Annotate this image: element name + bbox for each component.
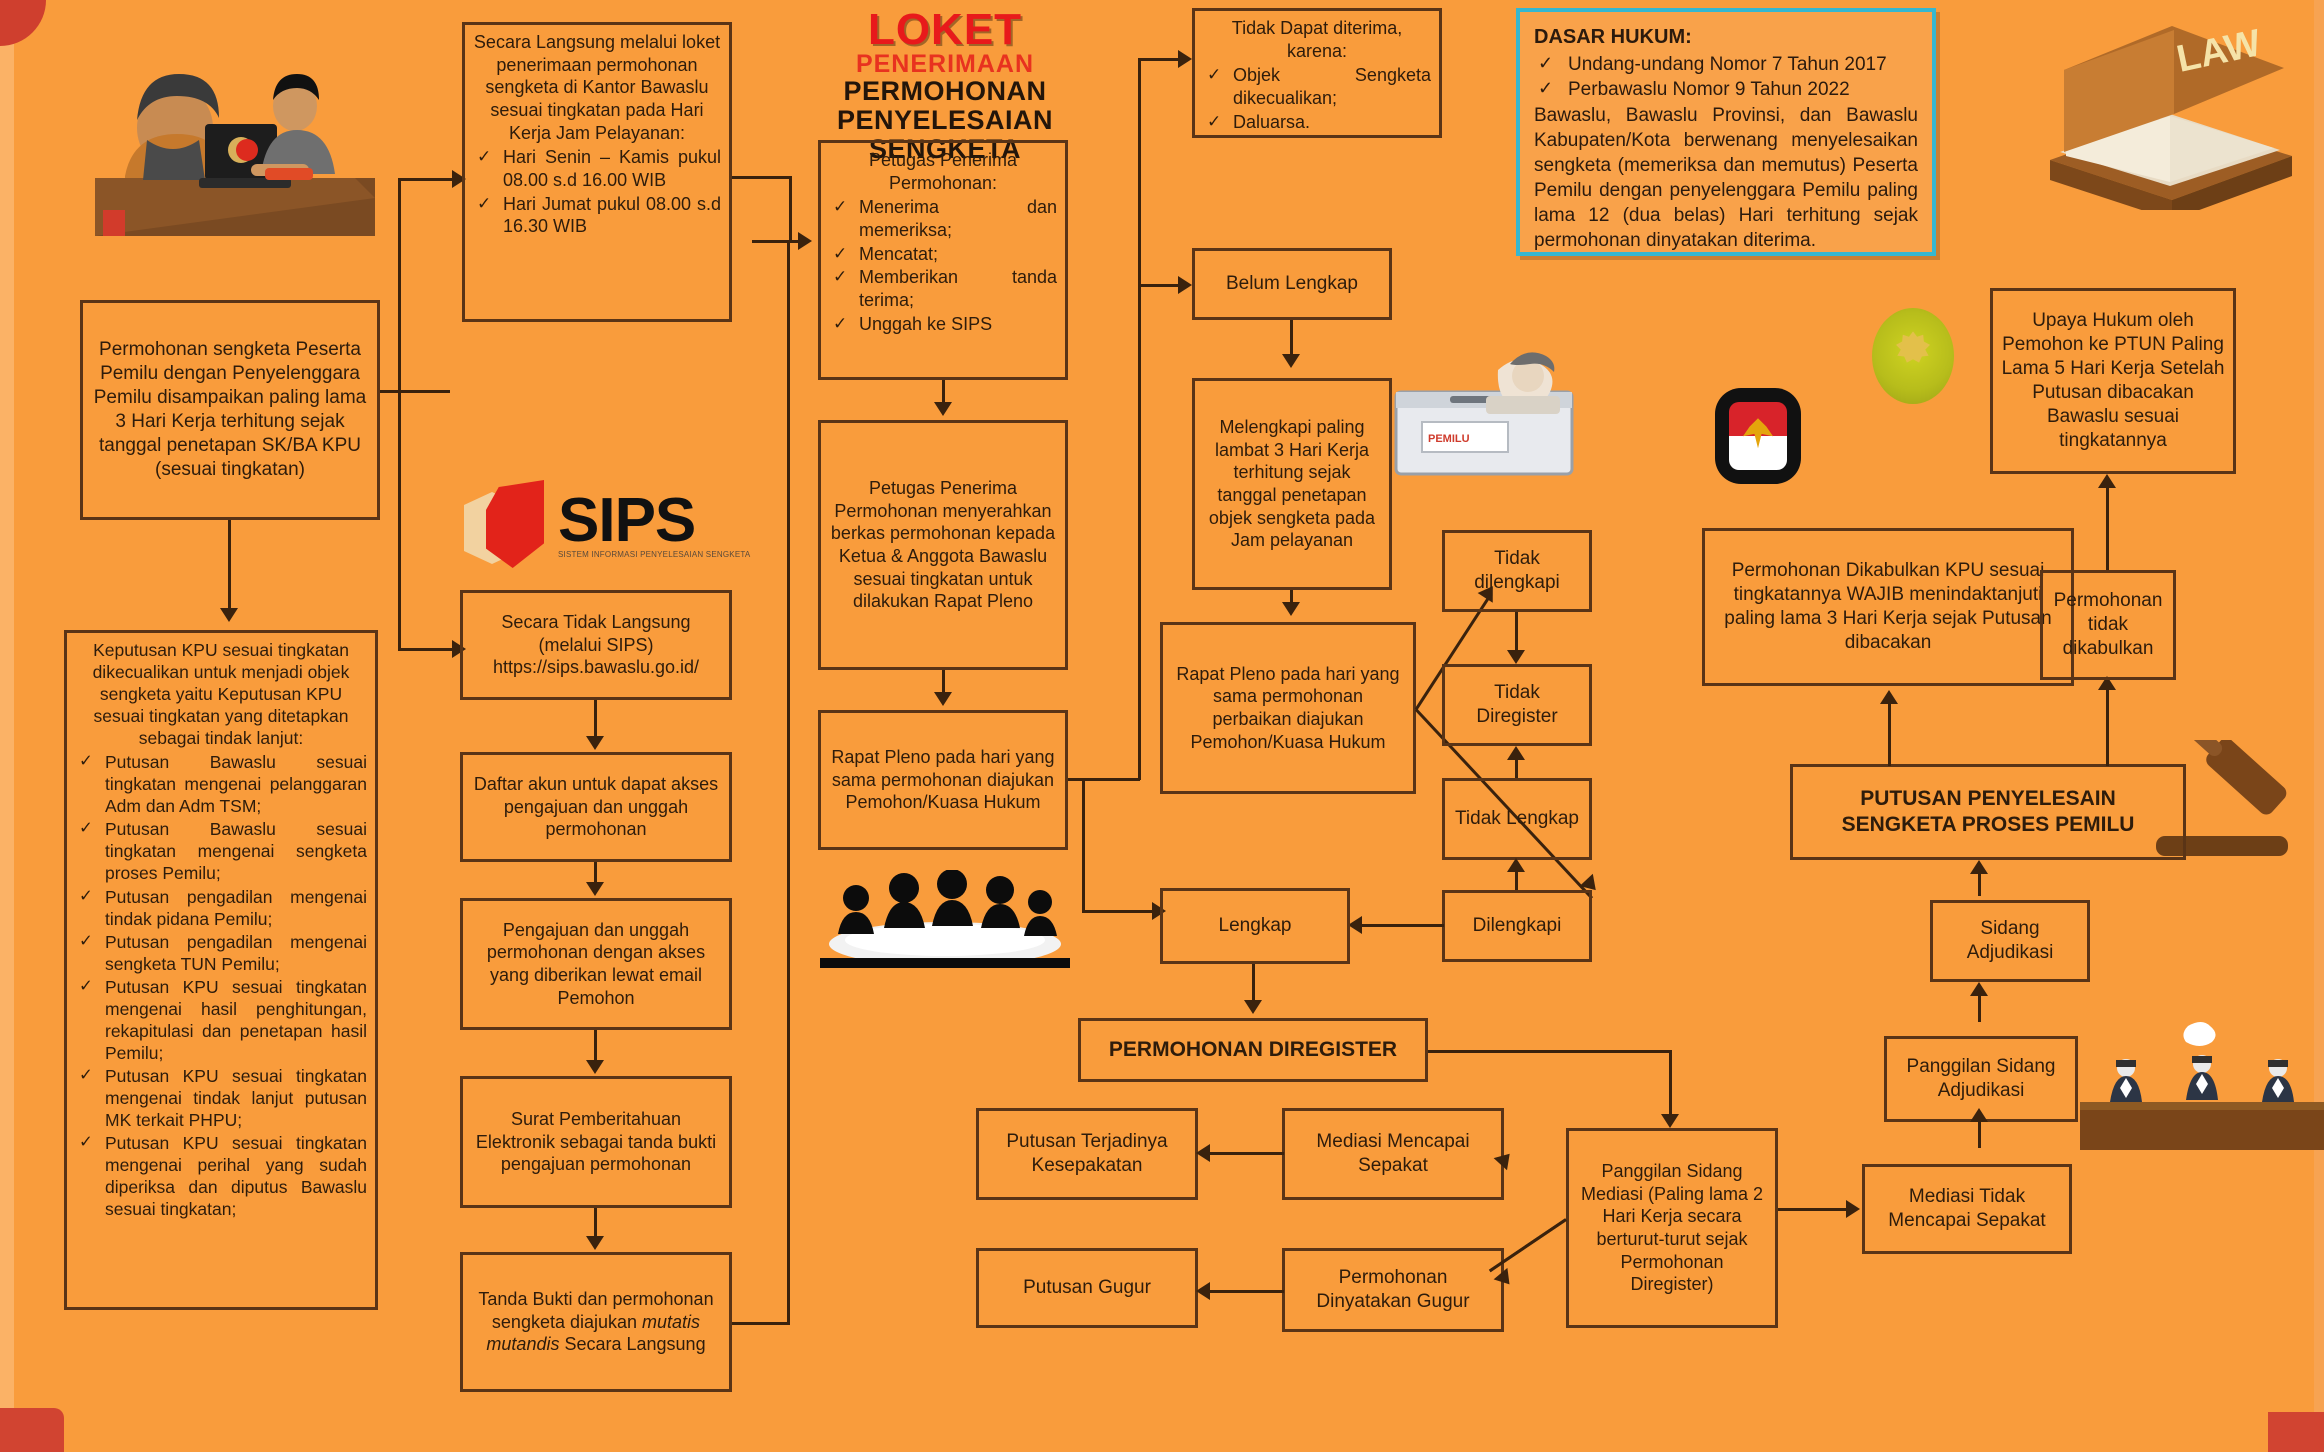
secara-langsung-heading: Secara Langsung melalui loket penerimaan…	[473, 31, 721, 144]
arrow-up-putusan-pss	[1970, 860, 1988, 874]
arrow-down-tanda	[586, 1236, 604, 1250]
connector-lengkap-to-diregister	[1252, 964, 1255, 1000]
box-tidak-dapat-diterima: Tidak Dapat diterima, karena: Objek Seng…	[1192, 8, 1442, 138]
arrow-down-keputusan	[220, 608, 238, 622]
arrow-left-putusan-kesepakatan	[1196, 1144, 1210, 1162]
connector-tidakdilengkapi-down	[1515, 612, 1518, 650]
arrow-up-permohonan-dikabulkan	[1880, 690, 1898, 704]
secara-langsung-item: Hari Jumat pukul 08.00 s.d 16.30 WIB	[473, 193, 721, 238]
svg-text:PEMILU: PEMILU	[1428, 433, 1470, 445]
petugas-penerima-item: Mencatat;	[829, 243, 1057, 266]
arrow-up-upaya-hukum	[2098, 474, 2116, 488]
bottom-left-corner-decoration	[0, 1408, 64, 1452]
dasar-hukum-list: Undang-undang Nomor 7 Tahun 2017 Perbawa…	[1534, 52, 1918, 102]
keputusan-kpu-item: Putusan pengadilan mengenai sengketa TUN…	[75, 931, 367, 975]
arrow-left-putusan-gugur	[1196, 1282, 1210, 1300]
box-keputusan-kpu: Keputusan KPU sesuai tingkatan dikecuali…	[64, 630, 378, 1310]
connector-pengajuan-to-surat	[594, 1030, 597, 1060]
connector-secara-langsung-right	[732, 176, 792, 179]
arrow-down-menyerahkan	[934, 402, 952, 416]
keputusan-kpu-item: Putusan Bawaslu sesuai tingkatan mengena…	[75, 751, 367, 817]
box-belum-lengkap: Belum Lengkap	[1192, 248, 1392, 320]
connector-diregister-right	[1428, 1050, 1672, 1053]
sips-wordmark: SIPS	[558, 493, 750, 549]
box-putusan-terjadinya-kesepakatan: Putusan Terjadinya Kesepakatan	[976, 1108, 1198, 1200]
box-permohonan-sengketa: Permohonan sengketa Peserta Pemilu denga…	[80, 300, 380, 520]
connector-petugas-to-menyerahkan	[942, 380, 945, 402]
top-left-corner-decoration	[0, 0, 46, 46]
box-sidang-adjudikasi: Sidang Adjudikasi	[1930, 900, 2090, 982]
bawaslu-logo	[1872, 308, 1954, 404]
bottom-right-corner-decoration	[2268, 1412, 2324, 1452]
box-petugas-menyerahkan: Petugas Penerima Permohonan menyerahkan …	[818, 420, 1068, 670]
box-daftar-akun: Daftar akun untuk dapat akses pengajuan …	[460, 752, 732, 862]
connector-col2-to-col3-vert	[789, 176, 792, 242]
dasar-hukum-paragraph: Bawaslu, Bawaslu Provinsi, dan Bawaslu K…	[1534, 103, 1918, 253]
connector-tanda-bukti-right	[732, 1322, 790, 1325]
box-dilengkapi: Dilengkapi	[1442, 890, 1592, 962]
tidak-diterima-item: Objek Sengketa dikecualikan;	[1203, 64, 1431, 109]
connector-hub-vert	[1138, 60, 1141, 780]
box-melengkapi: Melengkapi paling lambat 3 Hari Kerja te…	[1192, 378, 1392, 590]
arrow-up-tidak-diregister	[1507, 746, 1525, 760]
ballot-box-illustration: PEMILU	[1378, 330, 1588, 490]
connector-sidang-to-putusan	[1978, 874, 1981, 896]
box-tidak-diregister: Tidak Diregister	[1442, 664, 1592, 746]
connector-permohonan-right	[380, 390, 450, 393]
box-tidak-dilengkapi: Tidak dilengkapi	[1442, 530, 1592, 612]
connector-daftar-to-pengajuan	[594, 862, 597, 882]
secara-langsung-list: Hari Senin – Kamis pukul 08.00 s.d 16.00…	[473, 146, 721, 238]
petugas-penerima-list: Menerima dan memeriksa; Mencatat; Member…	[829, 196, 1057, 335]
arrow-down-pengajuan	[586, 882, 604, 896]
connector-melengkapi-to-pleno2	[1290, 590, 1293, 602]
connector-into-petugas	[752, 240, 804, 243]
arrow-down-diregister	[1244, 1000, 1262, 1014]
box-surat-pemberitahuan: Surat Pemberitahuan Elektronik sebagai t…	[460, 1076, 732, 1208]
secara-langsung-item: Hari Senin – Kamis pukul 08.00 s.d 16.00…	[473, 146, 721, 191]
connector-pleno1-down-lengkap	[1082, 778, 1085, 912]
box-pengajuan-unggah: Pengajuan dan unggah permohonan dengan a…	[460, 898, 732, 1030]
sips-logo: SIPS SISTEM INFORMASI PENYELESAIAN SENGK…	[462, 478, 750, 574]
arrow-down-pleno2	[1282, 602, 1300, 616]
box-permohonan-dikabulkan: Permohonan Dikabulkan KPU sesuai tingkat…	[1702, 528, 2074, 686]
dasar-hukum-item: Undang-undang Nomor 7 Tahun 2017	[1534, 52, 1918, 77]
connector-tidakdikabulkan-to-upaya	[2106, 488, 2109, 570]
right-frame-strip	[2314, 0, 2324, 1452]
connector-to-secara-langsung	[398, 178, 458, 181]
keputusan-kpu-item: Putusan KPU sesuai tingkatan mengenai ti…	[75, 1065, 367, 1131]
connector-surat-to-tanda	[594, 1208, 597, 1236]
connector-pleno1-right	[1068, 778, 1140, 781]
sips-subtitle: SISTEM INFORMASI PENYELESAIAN SENGKETA	[558, 550, 750, 559]
connector-panggilanadj-to-sidang	[1978, 996, 1981, 1022]
box-secara-tidak-langsung: Secara Tidak Langsung (melalui SIPS) htt…	[460, 590, 732, 700]
arrow-left-lengkap	[1348, 916, 1362, 934]
dasar-hukum-heading: DASAR HUKUM:	[1534, 24, 1918, 50]
connector-sepakat-to-putusan	[1208, 1152, 1284, 1155]
connector-putusan-up	[1888, 704, 1891, 766]
arrow-down-surat	[586, 1060, 604, 1074]
kpu-logo	[1715, 388, 1801, 484]
keputusan-kpu-heading: Keputusan KPU sesuai tingkatan dikecuali…	[75, 639, 367, 749]
arrow-down-panggilan-mediasi	[1661, 1114, 1679, 1128]
box-lengkap: Lengkap	[1160, 888, 1350, 964]
connector-tidaklengkap-up	[1515, 760, 1518, 778]
arrow-right-tidak-diterima	[1178, 50, 1192, 68]
loket-title-line2: PENERIMAAN	[810, 52, 1080, 77]
meeting-table-illustration	[820, 870, 1070, 970]
connector-permohonan-to-keputusan	[228, 520, 231, 610]
box-tanda-bukti: Tanda Bukti dan permohonan sengketa diaj…	[460, 1252, 732, 1392]
connector-mediasi-to-tidak-sepakat	[1778, 1208, 1852, 1211]
box-petugas-penerima: Petugas Penerima Permohonan: Menerima da…	[818, 140, 1068, 380]
connector-to-sips	[398, 648, 458, 651]
tanda-bukti-part2: Secara Langsung	[559, 1334, 705, 1354]
arrow-up-panggilan-adjudikasi	[1970, 1108, 1988, 1122]
connector-dilengkapi-up	[1515, 872, 1518, 890]
petugas-penerima-item: Memberikan tanda terima;	[829, 266, 1057, 311]
petugas-penerima-heading: Petugas Penerima Permohonan:	[829, 149, 1057, 194]
connector-to-mediasi-down	[1669, 1050, 1672, 1114]
dasar-hukum-item: Perbawaslu Nomor 9 Tahun 2022	[1534, 77, 1918, 102]
petugas-penerima-item: Unggah ke SIPS	[829, 313, 1057, 336]
arrow-down-pleno1	[934, 692, 952, 706]
box-rapat-pleno-1: Rapat Pleno pada hari yang sama permohon…	[818, 710, 1068, 850]
left-frame-strip	[0, 0, 14, 1452]
arrow-right-mediasi-tidak-sepakat	[1846, 1200, 1860, 1218]
box-putusan-penyelesaian-sengketa: PUTUSAN PENYELESAIN SENGKETA PROSES PEMI…	[1790, 764, 2186, 860]
connector-sips-to-daftar	[594, 700, 597, 736]
petugas-penerima-item: Menerima dan memeriksa;	[829, 196, 1057, 241]
box-mediasi-mencapai-sepakat: Mediasi Mencapai Sepakat	[1282, 1108, 1504, 1200]
judges-bench-illustration	[2080, 1020, 2324, 1160]
box-panggilan-sidang-mediasi: Panggilan Sidang Mediasi (Paling lama 2 …	[1566, 1128, 1778, 1328]
connector-tidaksepakat-to-panggilan-adj	[1978, 1122, 1981, 1148]
keputusan-kpu-item: Putusan KPU sesuai tingkatan mengenai ha…	[75, 976, 367, 1064]
arrow-right-petugas	[798, 232, 812, 250]
law-book-illustration: LAW	[2030, 10, 2300, 210]
box-putusan-gugur: Putusan Gugur	[976, 1248, 1198, 1328]
arrow-down-melengkapi	[1282, 354, 1300, 368]
arrow-up-sidang-adjudikasi	[1970, 982, 1988, 996]
dasar-hukum-panel: DASAR HUKUM: Undang-undang Nomor 7 Tahun…	[1516, 8, 1936, 256]
keputusan-kpu-item: Putusan Bawaslu sesuai tingkatan mengena…	[75, 818, 367, 884]
connector-putusan-up-tidak	[2106, 690, 2109, 766]
box-upaya-hukum: Upaya Hukum oleh Pemohon ke PTUN Paling …	[1990, 288, 2236, 474]
arrow-right-belum-lengkap	[1178, 276, 1192, 294]
connector-belum-to-melengkapi	[1290, 320, 1293, 354]
arrow-up-tidak-lengkap	[1507, 858, 1525, 872]
tidak-diterima-item: Daluarsa.	[1203, 111, 1431, 134]
flowchart-canvas: PEMILU	[0, 0, 2324, 1452]
sips-cube-icon	[462, 478, 548, 574]
box-secara-langsung: Secara Langsung melalui loket penerimaan…	[462, 22, 732, 322]
tidak-diterima-heading: Tidak Dapat diterima, karena:	[1203, 17, 1431, 62]
connector-gugur-to-putusan-gugur	[1208, 1290, 1284, 1293]
arrow-down-tidak-diregister	[1507, 650, 1525, 664]
connector-tanda-bukti-up	[787, 242, 790, 1324]
connector-into-lengkap	[1082, 910, 1158, 913]
connector-mediasi-to-gugur	[1489, 1218, 1567, 1272]
service-desk-illustration	[55, 28, 390, 238]
box-permohonan-tidak-dikabulkan: Permohonan tidak dikabulkan	[2040, 570, 2176, 680]
tidak-diterima-list: Objek Sengketa dikecualikan; Daluarsa.	[1203, 64, 1431, 133]
connector-vertical-split	[398, 180, 401, 650]
loket-title-line1: LOKET	[810, 8, 1080, 52]
keputusan-kpu-item: Putusan pengadilan mengenai tindak pidan…	[75, 886, 367, 930]
box-permohonan-dinyatakan-gugur: Permohonan Dinyatakan Gugur	[1282, 1248, 1504, 1332]
keputusan-kpu-item: Putusan KPU sesuai tingkatan mengenai pe…	[75, 1132, 367, 1220]
box-tidak-lengkap: Tidak Lengkap	[1442, 778, 1592, 860]
box-permohonan-diregister: PERMOHONAN DIREGISTER	[1078, 1018, 1428, 1082]
box-mediasi-tidak-mencapai-sepakat: Mediasi Tidak Mencapai Sepakat	[1862, 1164, 2072, 1254]
connector-menyerahkan-to-pleno	[942, 670, 945, 692]
box-rapat-pleno-2: Rapat Pleno pada hari yang sama permohon…	[1160, 622, 1416, 794]
arrow-down-daftar	[586, 736, 604, 750]
connector-dilengkapi-to-lengkap	[1360, 924, 1444, 927]
keputusan-kpu-list: Putusan Bawaslu sesuai tingkatan mengena…	[75, 751, 367, 1220]
